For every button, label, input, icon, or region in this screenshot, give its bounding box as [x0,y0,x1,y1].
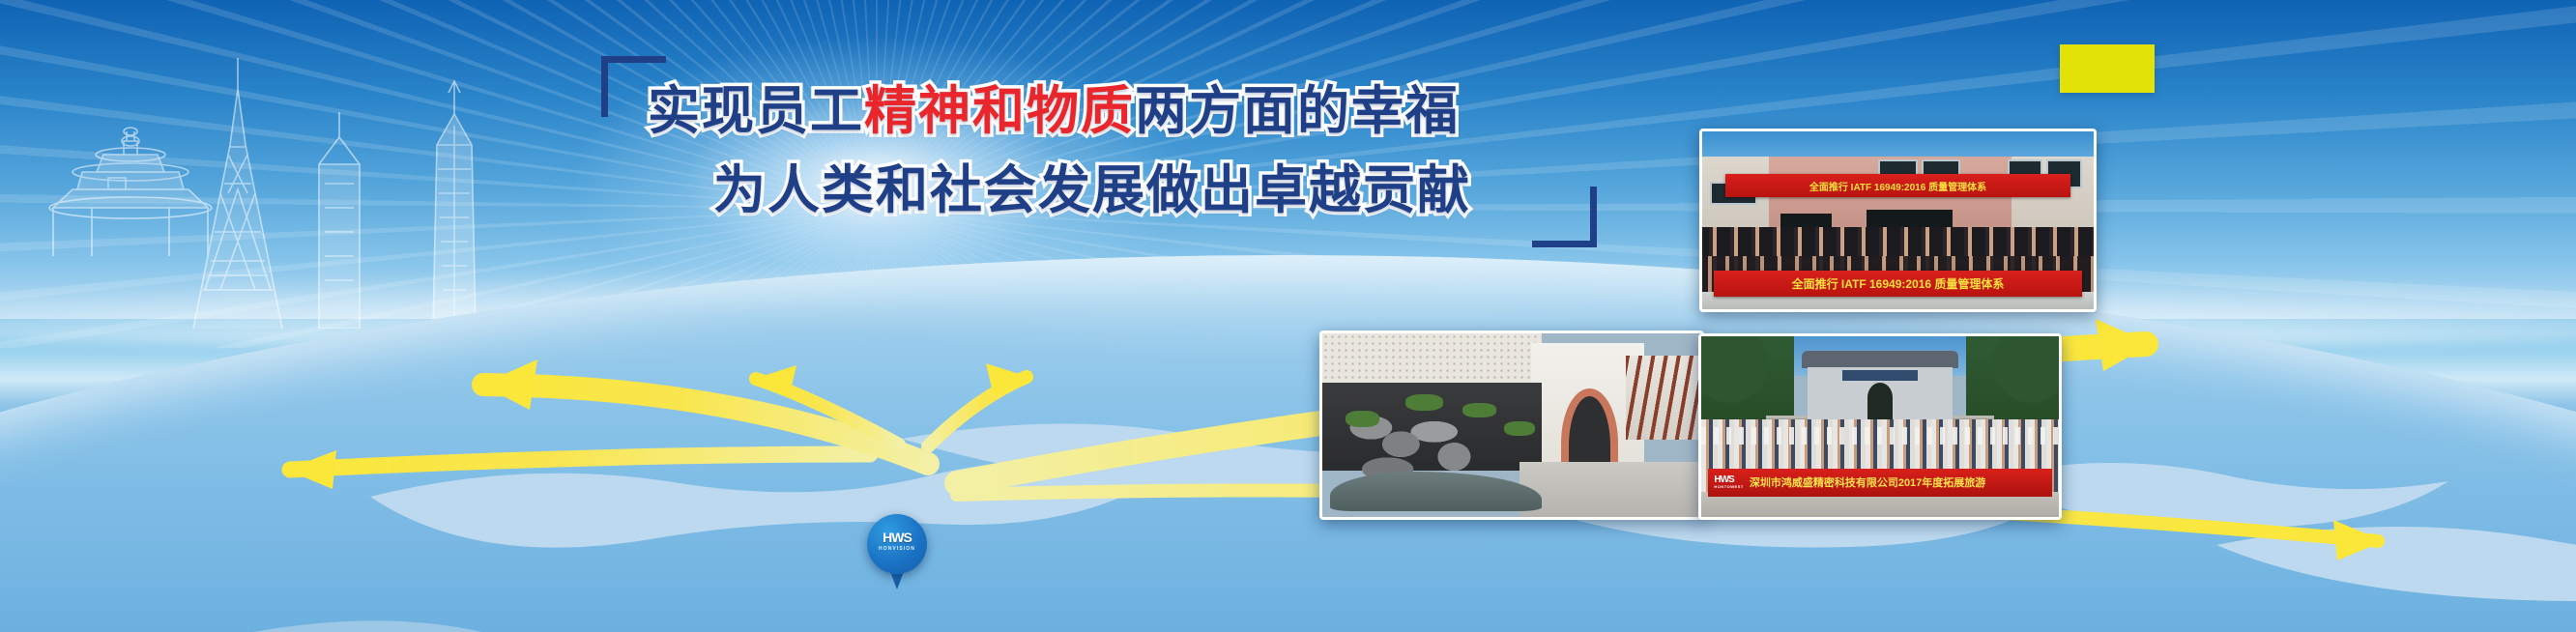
globe-continents [0,255,2576,632]
garden-photo-scene [1322,333,1701,517]
garden-plant [1504,421,1534,436]
headline-line-2: 为人类和社会发展做出卓越贡献 [713,164,1471,216]
headline-block: 实现员工精神和物质两方面的幸福 为人类和社会发展做出卓越贡献 [599,56,1595,240]
garden-plant [1405,394,1443,411]
pin-logo-wordmark: HONVISION [867,546,927,552]
garden-floor [1520,462,1701,517]
corner-bracket-bottom-right-icon [1532,187,1597,247]
outing-gate-roof [1802,351,1959,368]
outing-memorial-gate [1802,351,1959,419]
globe-sphere [0,255,2576,632]
garden-pond [1330,472,1543,512]
outing-crowd-caps [1701,427,2059,445]
globe-container [0,226,2576,632]
iatf-banner-bottom: 全面推行 IATF 16949:2016 质量管理体系 [1714,271,2082,298]
outing-banner-text: 深圳市鸿威盛精密科技有限公司2017年度拓展旅游 [1750,474,1985,490]
headline-line1-highlight: 精神和物质 [864,82,1135,140]
company-garden-courtyard-photo[interactable] [1319,330,1704,520]
pin-logo-mark: HWS [867,531,927,544]
garden-textured-wall [1322,333,1542,388]
headline-line1-part2: 两方面的幸福 [1135,82,1460,140]
yellow-accent-square [2060,44,2155,93]
headline-line-1: 实现员工精神和物质两方面的幸福 [648,85,1460,137]
outing-banner-logo: HWS HONTOWEST [1714,475,1743,489]
outing-photo-scene: HWS HONTOWEST 深圳市鸿威盛精密科技有限公司2017年度拓展旅游 [1701,336,2059,517]
garden-plant [1346,411,1379,427]
garden-pergola [1626,356,1701,440]
headline-line1-part1: 实现员工 [648,82,864,140]
iatf-banner-top: 全面推行 IATF 16949:2016 质量管理体系 [1725,174,2069,197]
iatf-certification-group-photo[interactable]: 全面推行 IATF 16949:2016 质量管理体系 全面推行 IATF 16… [1699,129,2097,312]
garden-plant [1462,403,1496,417]
outing-banner-logo-sub: HONTOWEST [1714,485,1743,489]
iatf-photo-scene: 全面推行 IATF 16949:2016 质量管理体系 全面推行 IATF 16… [1702,131,2094,309]
outing-gate-plaque [1842,370,1918,381]
location-pin-logo[interactable]: HWS HONVISION [867,514,927,591]
team-outing-group-photo[interactable]: HWS HONTOWEST 深圳市鸿威盛精密科技有限公司2017年度拓展旅游 [1698,333,2062,520]
corporate-vision-banner: 实现员工精神和物质两方面的幸福 为人类和社会发展做出卓越贡献 全面推行 IATF… [0,0,2576,632]
outing-gate-archway [1867,383,1893,419]
outing-red-banner: HWS HONTOWEST 深圳市鸿威盛精密科技有限公司2017年度拓展旅游 [1708,469,2051,498]
